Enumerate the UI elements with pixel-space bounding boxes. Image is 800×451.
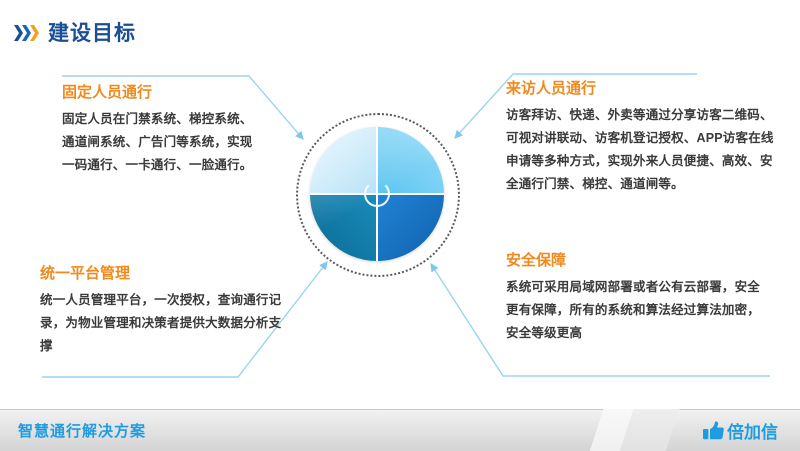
page-title: 建设目标	[48, 23, 136, 44]
pie-gloss-overlay	[310, 127, 444, 261]
callout-body-security-guarantee: 系统可采用局域网部署或者公有云部署，安全更有保障，所有的系统和算法经过算法加密，…	[506, 276, 768, 345]
brand-logo[interactable]: 倍加信	[703, 418, 778, 443]
central-diagram	[296, 113, 460, 277]
quadrant-pie	[310, 127, 444, 261]
callout-security-guarantee: 安全保障 系统可采用局域网部署或者公有云部署，安全更有保障，所有的系统和算法经过…	[506, 252, 768, 345]
page-header: 建设目标	[14, 18, 136, 48]
double-chevron-right-icon	[14, 24, 38, 42]
callout-title-security-guarantee: 安全保障	[506, 252, 768, 270]
callout-title-fixed-personnel: 固定人员通行	[62, 84, 262, 102]
callout-fixed-personnel: 固定人员通行 固定人员在门禁系统、梯控系统、通道闸系统、广告门等系统，实现一码通…	[62, 84, 262, 177]
callout-body-unified-platform: 统一人员管理平台，一次授权，查询通行记录，为物业管理和决策者提供大数据分析支撑	[40, 289, 285, 358]
footer-solution-text: 智慧通行解决方案	[18, 420, 146, 441]
slide-canvas: 建设目标 固定人员通行 固定人员在门	[0, 0, 800, 451]
footer-bar: 智慧通行解决方案 倍加信	[0, 409, 800, 451]
thumbs-up-icon	[703, 421, 724, 440]
callout-visitor-personnel: 来访人员通行 访客拜访、快递、外卖等通过分享访客二维码、可视对讲联动、访客机登记…	[506, 80, 774, 197]
callout-body-fixed-personnel: 固定人员在门禁系统、梯控系统、通道闸系统、广告门等系统，实现一码通行、一卡通行、…	[62, 108, 262, 177]
callout-unified-platform: 统一平台管理 统一人员管理平台，一次授权，查询通行记录，为物业管理和决策者提供大…	[40, 265, 285, 358]
callout-body-visitor-personnel: 访客拜访、快递、外卖等通过分享访客二维码、可视对讲联动、访客机登记授权、APP访…	[506, 104, 774, 197]
chevron-3-icon	[30, 24, 39, 42]
brand-name: 倍加信	[727, 418, 778, 443]
callout-title-unified-platform: 统一平台管理	[40, 265, 285, 283]
callout-title-visitor-personnel: 来访人员通行	[506, 80, 774, 98]
footer-divider	[0, 409, 800, 410]
